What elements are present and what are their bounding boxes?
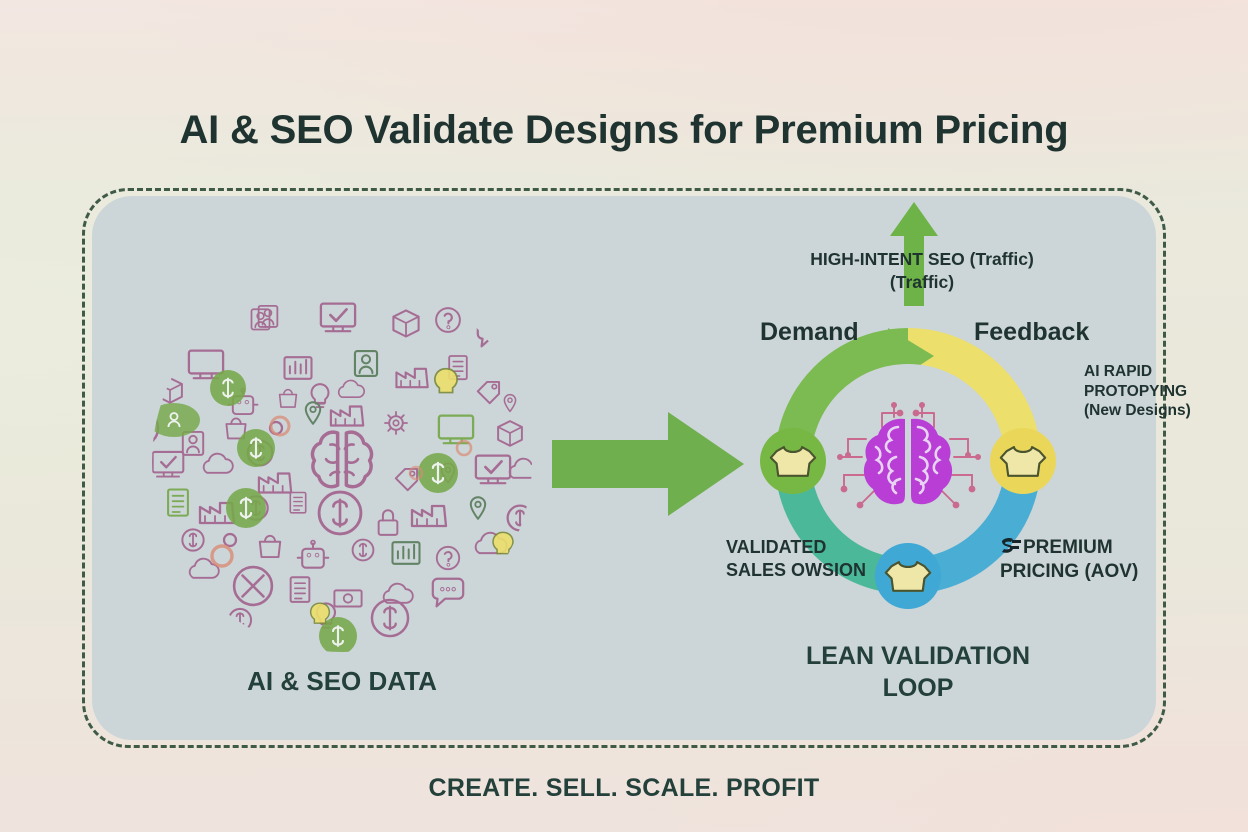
label-ai-rapid-line3: (New Designs) <box>1084 401 1206 421</box>
label-validated-sales: VALIDATED SALES OWSION <box>726 536 886 583</box>
premium-badge-icon <box>1000 537 1022 555</box>
label-ai-rapid-line1: AI RAPID <box>1084 362 1206 382</box>
loop-caption-line1: LEAN VALIDATION <box>758 640 1078 672</box>
loop-caption-line2: LOOP <box>758 672 1078 704</box>
flow-arrow-right <box>552 412 744 516</box>
ai-seo-data-icon-cloud <box>148 268 536 656</box>
loop-caption: LEAN VALIDATION LOOP <box>758 640 1078 704</box>
left-cluster-caption: AI & SEO DATA <box>148 666 536 697</box>
label-high-intent-seo-line1: HIGH-INTENT SEO (Traffic) <box>786 248 1058 271</box>
label-validated-line1: VALIDATED <box>726 536 886 559</box>
label-premium-line2: PRICING (AOV) <box>1000 560 1182 584</box>
label-ai-rapid-prototyping: AI RAPID PROTOPYING (New Designs) <box>1084 362 1206 421</box>
label-premium-line1-row: PREMIUM <box>1000 536 1182 560</box>
label-demand: Demand <box>760 318 859 347</box>
label-validated-line2: SALES OWSION <box>726 559 886 582</box>
infographic-canvas: AI & SEO Validate Designs for Premium Pr… <box>0 0 1248 832</box>
footer-tagline: CREATE. SELL. SCALE. PROFIT <box>0 774 1248 803</box>
page-title: AI & SEO Validate Designs for Premium Pr… <box>0 108 1248 153</box>
label-high-intent-seo: HIGH-INTENT SEO (Traffic) (Traffic) <box>786 248 1058 294</box>
label-premium-pricing: PREMIUM PRICING (AOV) <box>1000 536 1182 585</box>
label-feedback: Feedback <box>974 318 1089 347</box>
label-high-intent-seo-line2: (Traffic) <box>786 271 1058 294</box>
label-ai-rapid-line2: PROTOPYING <box>1084 382 1206 402</box>
label-premium-line1: PREMIUM <box>1023 537 1113 558</box>
